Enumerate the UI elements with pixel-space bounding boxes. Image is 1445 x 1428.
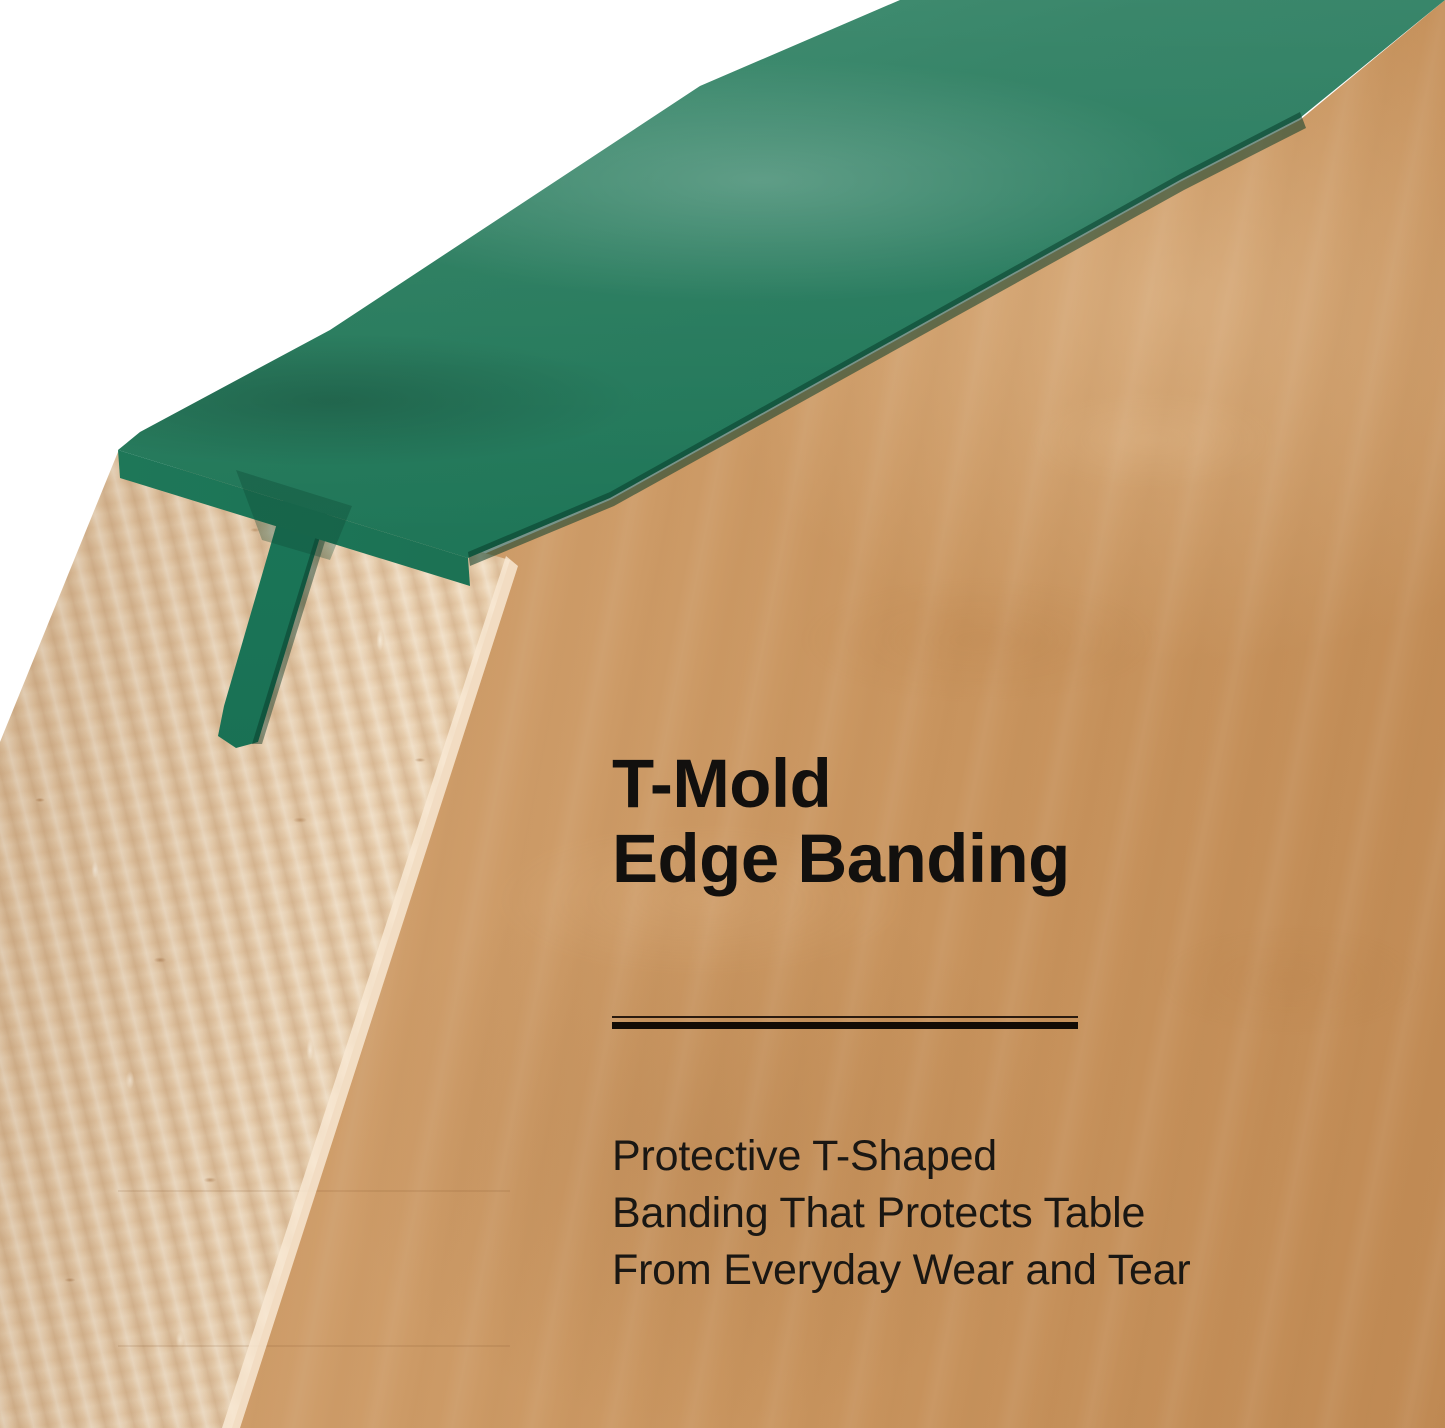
subheadline: Protective T-Shaped Banding That Protect…	[612, 1128, 1392, 1299]
headline: T-Mold Edge Banding	[612, 746, 1372, 896]
product-feature-image: T-Mold Edge Banding Protective T-Shaped …	[0, 0, 1445, 1428]
divider-rule	[612, 1016, 1078, 1029]
divider-rule-thick	[612, 1022, 1078, 1029]
